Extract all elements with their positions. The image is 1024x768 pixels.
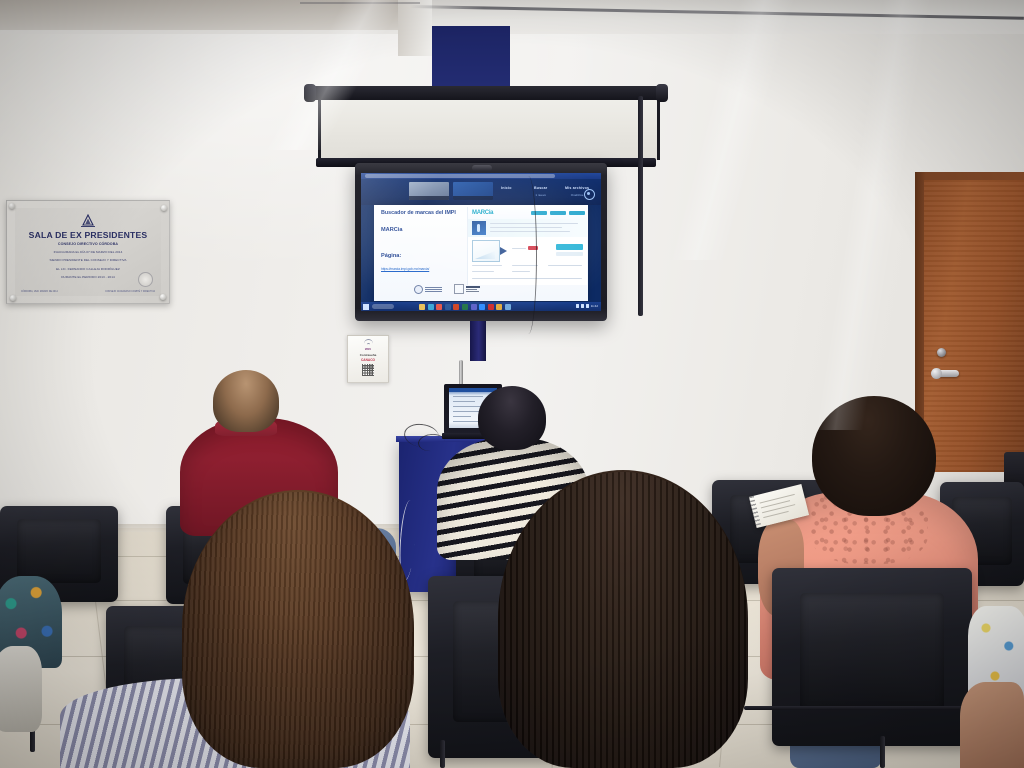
website-nav[interactable] — [531, 211, 585, 215]
brown-hair-head — [182, 490, 414, 768]
pink-top-head — [812, 396, 936, 516]
participant-thumbnail[interactable] — [453, 182, 493, 200]
word-icon[interactable] — [445, 304, 451, 310]
plaque-screw — [161, 205, 167, 211]
wifi-qr-sign: WiFi Contraseña CANACO — [347, 335, 389, 383]
pdf-icon[interactable] — [488, 304, 494, 310]
door-handle-icon[interactable] — [935, 370, 959, 377]
plaque-subtitle: CONSEJO DIRECTIVO CÓRDOBA — [58, 242, 118, 247]
plaque-seal-icon — [138, 272, 153, 287]
explorer-icon[interactable] — [419, 304, 425, 310]
plaque-screw — [160, 294, 166, 300]
slide-pagina-label: Página: — [381, 253, 401, 259]
videocall-top-strip: Inicio Buscar 1 nuevo Mis archivos OneDr… — [361, 179, 601, 205]
marcia-brand-main: MARC — [472, 210, 489, 216]
tv-camera-icon — [472, 165, 492, 171]
taskbar-system-tray[interactable]: 11:42 — [576, 304, 598, 308]
presentation-slide: Buscador de marcas del IMPI MARCia Págin… — [374, 205, 588, 301]
marcia-brand: MARCia — [472, 210, 493, 216]
retractable-projection-screen[interactable] — [312, 86, 660, 174]
plaque-emblem-icon — [78, 213, 98, 229]
plaque-line-2: SIENDO PRESIDENTE DEL CONSEJO Y DIRECTIV… — [49, 258, 126, 263]
chair-leg — [440, 740, 445, 768]
qr-code-icon — [362, 364, 374, 376]
plaque-line-1: INAUGURADA EL DÍA 07 DE MARZO DEL 2014 — [54, 250, 123, 255]
chair-rail — [744, 706, 976, 710]
nav-item-inicio[interactable]: Inicio — [501, 187, 512, 194]
soffit-face — [398, 0, 432, 56]
nav-item-buscar[interactable]: Buscar 1 nuevo — [534, 187, 547, 197]
teams-icon[interactable] — [471, 304, 477, 310]
blue-wall-column — [432, 26, 510, 86]
wall-dedication-plaque: SALA DE EX PRESIDENTES CONSEJO DIRECTIVO… — [6, 200, 170, 304]
battery-icon[interactable] — [586, 304, 589, 308]
image-upload-box[interactable] — [472, 240, 500, 262]
gobmx-logo-icon — [454, 284, 480, 294]
striped-shirt-head — [478, 386, 546, 450]
windows-taskbar[interactable]: 11:42 — [361, 302, 601, 311]
windows-start-icon[interactable] — [363, 304, 369, 310]
nav-pill-contacto[interactable] — [569, 211, 585, 215]
projection-screen-fabric — [318, 100, 660, 160]
plaque-screw — [10, 295, 16, 301]
room-photo-scene: SALA DE EX PRESIDENTES CONSEJO DIRECTIVO… — [0, 0, 1024, 768]
ceiling-soffit — [0, 0, 430, 30]
chair-leg — [880, 736, 885, 768]
plaque-foot-left: CÓRDOBA, VER. MARZO DE 2014 — [21, 291, 58, 293]
door-lock-icon[interactable] — [937, 348, 946, 357]
wifi-password-label: Contraseña — [360, 353, 377, 357]
roller-cap-right — [656, 84, 668, 102]
participant-thumbnail[interactable] — [409, 182, 449, 200]
impi-logo-icon — [414, 285, 442, 294]
folder-icon[interactable] — [496, 304, 502, 310]
room-door[interactable] — [915, 172, 1024, 472]
search-button[interactable] — [556, 244, 583, 250]
network-icon[interactable] — [576, 304, 579, 308]
plaque-title: SALA DE EX PRESIDENTES — [29, 231, 148, 240]
wifi-icon — [364, 339, 373, 346]
plaque-line-4: DURANTE EL PERIODO 2013 - 2014 — [61, 275, 114, 280]
tv-screen[interactable]: Inicio Buscar 1 nuevo Mis archivos OneDr… — [361, 173, 601, 311]
ceiling-track-secondary — [300, 2, 420, 4]
slide-title: Buscador de marcas del IMPI — [381, 210, 467, 217]
wifi-label: WiFi — [365, 347, 371, 351]
door-leaf[interactable] — [924, 180, 1024, 472]
marcia-brand-accent: ia — [489, 210, 493, 216]
media-icon[interactable] — [505, 304, 511, 310]
wifi-password-value: CANACO — [361, 358, 375, 362]
arrow-right-icon — [500, 247, 507, 255]
close-circle-icon[interactable] — [584, 189, 595, 200]
plaque-foot-right: CONSEJO CIUDADANO COMITÉ Y DIRECTIVA — [105, 291, 155, 293]
plaque-line-3: EL LIC. FERNANDO CALLEJA RODRÍGUEZ — [56, 267, 120, 272]
edge-icon[interactable] — [428, 304, 434, 310]
excel-icon[interactable] — [462, 304, 468, 310]
tv-mount-arm — [470, 321, 486, 361]
powerpoint-icon[interactable] — [453, 304, 459, 310]
nav-pill-ayuda[interactable] — [550, 211, 566, 215]
chrome-icon[interactable] — [436, 304, 442, 310]
attendee-floral-left-arm — [0, 646, 42, 732]
hdmi-cable — [520, 176, 537, 334]
roller-cap-left — [304, 84, 316, 102]
volume-icon[interactable] — [581, 304, 584, 308]
attendee-floral-right-arm — [960, 682, 1024, 768]
dark-hair-head — [498, 470, 748, 768]
clear-button[interactable] — [556, 252, 583, 256]
taskbar-search-box[interactable] — [372, 304, 394, 309]
slide-url-link[interactable]: https://marcia.impi.gob.mx/marcia/ — [381, 267, 429, 271]
chair-front-right[interactable] — [772, 568, 972, 746]
zoom-icon[interactable] — [479, 304, 485, 310]
marcia-hero-icon — [472, 221, 486, 235]
red-shirt-head — [213, 370, 279, 432]
screen-side-rod — [638, 96, 643, 316]
plaque-screw — [9, 203, 15, 209]
slide-heading: MARCia — [381, 227, 402, 233]
taskbar-clock[interactable]: 11:42 — [591, 304, 598, 308]
taskbar-pinned-icons[interactable] — [419, 304, 511, 310]
wall-mounted-display[interactable]: Inicio Buscar 1 nuevo Mis archivos OneDr… — [355, 163, 607, 321]
projection-screen-roller — [312, 86, 660, 100]
